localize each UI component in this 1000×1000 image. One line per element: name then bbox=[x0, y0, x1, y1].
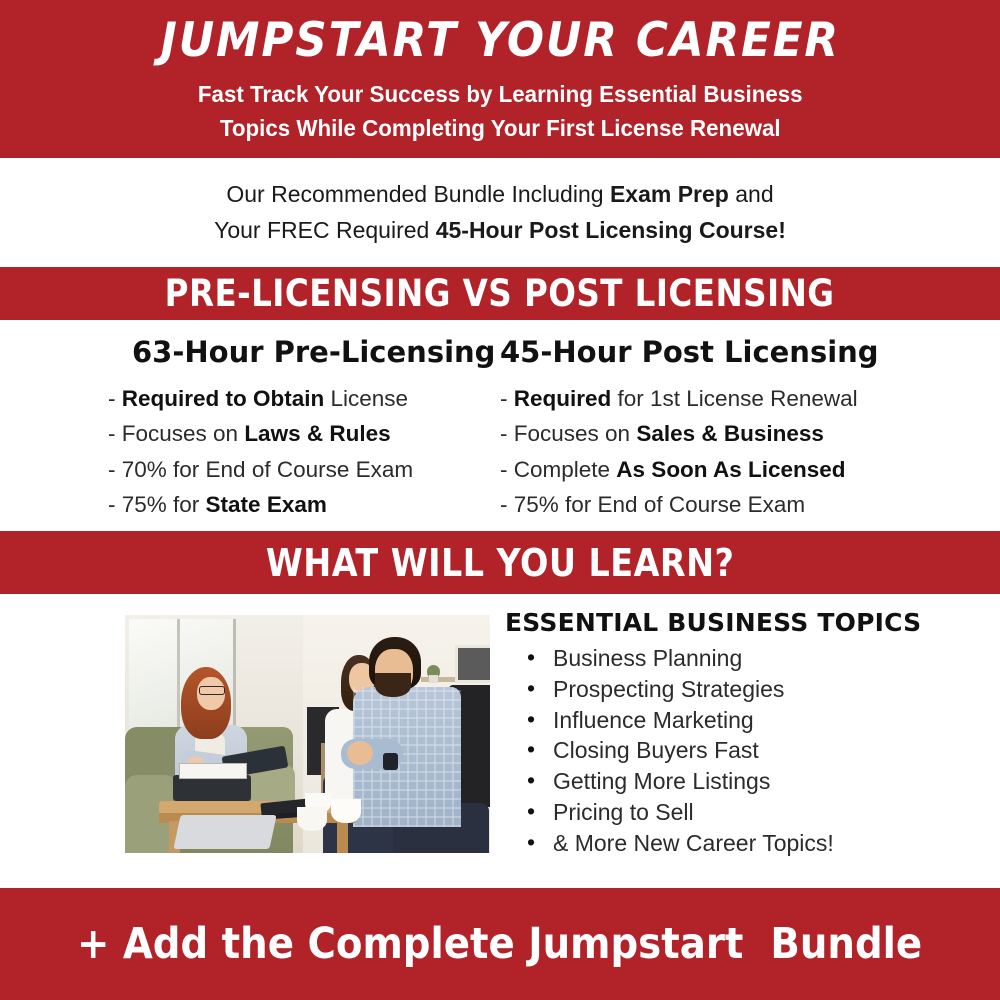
bullet-emphasis: Sales & Business bbox=[636, 421, 824, 446]
intro-section: Our Recommended Bundle Including Exam Pr… bbox=[0, 158, 1000, 267]
learn-banner-title: WHAT WILL YOU LEARN? bbox=[266, 544, 734, 582]
hero-title: JUMPSTART YOUR CAREER bbox=[160, 17, 839, 64]
bullet-prefix: - Focuses on bbox=[108, 421, 244, 446]
bullet-item: - Required for 1st License Renewal bbox=[500, 381, 1000, 416]
learn-banner: WHAT WILL YOU LEARN? bbox=[0, 531, 1000, 594]
bullet-item: - Required to Obtain License bbox=[108, 381, 490, 416]
hero-subtitle-line-2: Topics While Completing Your First Licen… bbox=[198, 112, 803, 145]
pre-licensing-bullets: - Required to Obtain License - Focuses o… bbox=[108, 381, 490, 522]
intro-line-1-prefix: Our Recommended Bundle Including bbox=[226, 181, 610, 207]
bullet-prefix: - bbox=[108, 386, 122, 411]
bullet-emphasis: Laws & Rules bbox=[244, 421, 390, 446]
compare-section: 63-Hour Pre-Licensing - Required to Obta… bbox=[0, 320, 1000, 531]
photo-cup-2 bbox=[331, 799, 361, 823]
photo-vase bbox=[429, 675, 438, 683]
bullet-suffix: License bbox=[324, 386, 408, 411]
add-bundle-cta[interactable]: + Add the Complete Jumpstart Bundle bbox=[0, 888, 1000, 1000]
intro-line-2: Your FREC Required 45-Hour Post Licensin… bbox=[214, 213, 786, 249]
bullet-emphasis: Required to Obtain bbox=[122, 386, 325, 411]
bullet-suffix: for 1st License Renewal bbox=[611, 386, 857, 411]
list-item: & More New Career Topics! bbox=[527, 828, 975, 859]
photo-man-beard bbox=[375, 673, 411, 697]
photo-man-watch bbox=[383, 753, 398, 770]
compare-banner: PRE-LICENSING VS POST LICENSING bbox=[0, 267, 1000, 320]
bullet-prefix: - 75% for bbox=[108, 492, 206, 517]
list-item: Business Planning bbox=[527, 643, 975, 674]
list-item: Getting More Listings bbox=[527, 766, 975, 797]
photo-window-mullion bbox=[177, 619, 180, 739]
hero-banner: JUMPSTART YOUR CAREER Fast Track Your Su… bbox=[0, 0, 1000, 158]
intro-line-1: Our Recommended Bundle Including Exam Pr… bbox=[226, 177, 773, 213]
learn-section: ESSENTIAL BUSINESS TOPICS Business Plann… bbox=[0, 594, 1000, 888]
list-item: Prospecting Strategies bbox=[527, 674, 975, 705]
intro-line-1-suffix: and bbox=[729, 181, 774, 207]
list-item: Influence Marketing bbox=[527, 705, 975, 736]
add-bundle-cta-label: + Add the Complete Jumpstart Bundle bbox=[77, 923, 922, 966]
bullet-prefix: - bbox=[500, 386, 514, 411]
topics-heading: ESSENTIAL BUSINESS TOPICS bbox=[505, 608, 975, 637]
bullet-prefix: - Focuses on bbox=[500, 421, 636, 446]
photo-cup-3 bbox=[297, 807, 327, 831]
topics-list: Business Planning Prospecting Strategies… bbox=[505, 643, 975, 859]
photo-floor bbox=[125, 853, 490, 865]
intro-line-1-emphasis: Exam Prep bbox=[610, 181, 729, 207]
bullet-emphasis: As Soon As Licensed bbox=[616, 457, 845, 482]
infographic-page: JUMPSTART YOUR CAREER Fast Track Your Su… bbox=[0, 0, 1000, 1000]
post-licensing-heading: 45-Hour Post Licensing bbox=[500, 338, 1000, 367]
bullet-emphasis: Required bbox=[514, 386, 612, 411]
bullet-item: - Complete As Soon As Licensed bbox=[500, 452, 1000, 487]
photo-agent-glasses bbox=[199, 686, 225, 695]
bullet-item: - Focuses on Laws & Rules bbox=[108, 416, 490, 451]
pre-licensing-column: 63-Hour Pre-Licensing - Required to Obta… bbox=[0, 338, 490, 531]
photo-picture-frame bbox=[455, 645, 490, 683]
bullet-emphasis: State Exam bbox=[206, 492, 327, 517]
hero-subtitle: Fast Track Your Success by Learning Esse… bbox=[182, 78, 819, 145]
topics-block: ESSENTIAL BUSINESS TOPICS Business Plann… bbox=[505, 608, 975, 859]
intro-line-2-prefix: Your FREC Required bbox=[214, 217, 436, 243]
list-item: Closing Buyers Fast bbox=[527, 735, 975, 766]
meeting-photo bbox=[125, 615, 490, 865]
list-item: Pricing to Sell bbox=[527, 797, 975, 828]
hero-subtitle-line-1: Fast Track Your Success by Learning Esse… bbox=[198, 78, 803, 111]
bullet-item: - 75% for End of Course Exam bbox=[500, 487, 1000, 522]
photo-man-hand bbox=[347, 741, 373, 765]
post-licensing-column: 45-Hour Post Licensing - Required for 1s… bbox=[490, 338, 1000, 531]
photo-laptop bbox=[173, 815, 276, 849]
bullet-prefix: - 75% for End of Course Exam bbox=[500, 492, 805, 517]
bullet-item: - 70% for End of Course Exam bbox=[108, 452, 490, 487]
bullet-prefix: - 70% for End of Course Exam bbox=[108, 457, 413, 482]
pre-licensing-heading: 63-Hour Pre-Licensing bbox=[108, 338, 490, 367]
bullet-item: - 75% for State Exam bbox=[108, 487, 490, 522]
photo-notepad bbox=[179, 763, 247, 779]
compare-banner-title: PRE-LICENSING VS POST LICENSING bbox=[165, 275, 835, 312]
bullet-item: - Focuses on Sales & Business bbox=[500, 416, 1000, 451]
bullet-prefix: - Complete bbox=[500, 457, 616, 482]
intro-line-2-emphasis: 45-Hour Post Licensing Course! bbox=[436, 217, 786, 243]
